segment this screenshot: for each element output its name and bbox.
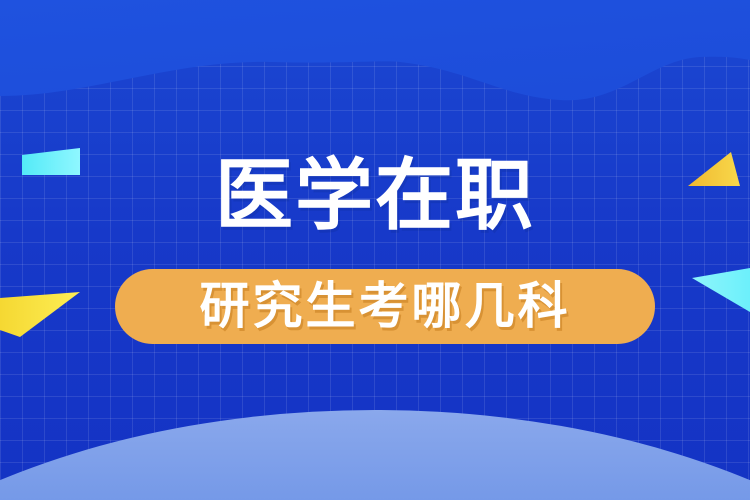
- banner-headline: 医学在职: [0, 156, 750, 234]
- subtitle-pill: 研究生考哪几科: [115, 269, 655, 344]
- background-shapes: [0, 0, 750, 500]
- subtitle-pill-label: 研究生考哪几科: [200, 281, 571, 331]
- promo-banner: 医学在职 研究生考哪几科: [0, 0, 750, 500]
